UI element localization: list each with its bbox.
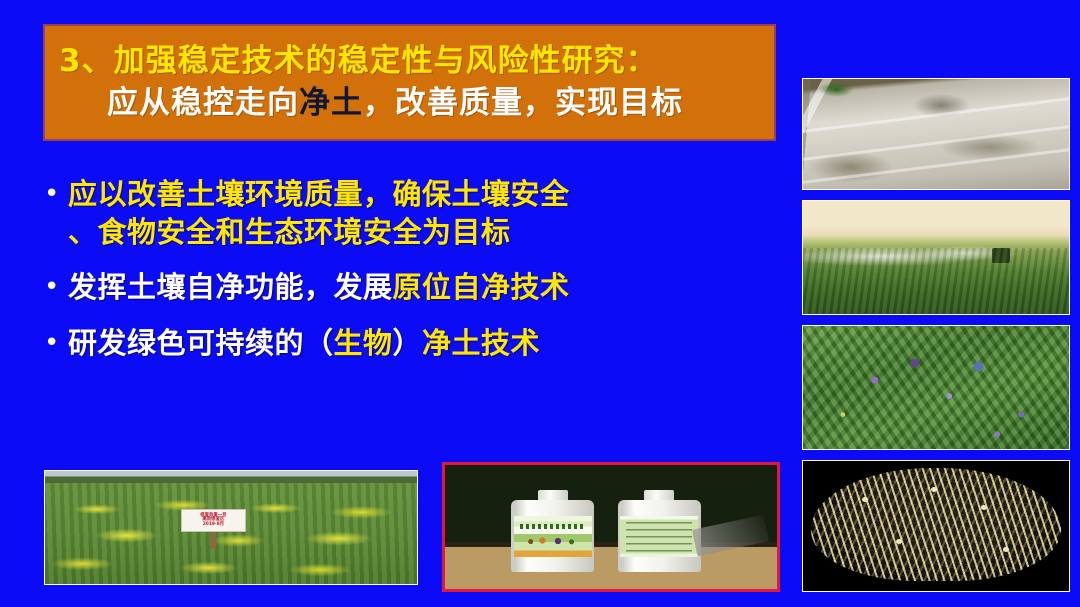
root-nodule-mass xyxy=(811,468,1061,581)
bullet-1-segment-1: 应以改善土壤环境质量，确保土壤安全 xyxy=(68,177,570,211)
crop-field-image xyxy=(803,201,1069,314)
product-bottles-image xyxy=(445,465,777,589)
list-item: • 发挥土壤自净功能，发展原位自净技术 xyxy=(44,269,744,307)
saline-soil-texture xyxy=(803,79,1069,189)
list-item: • 研发绿色可持续的（生物）净土技术 xyxy=(44,325,744,363)
bullet-marker-icon: • xyxy=(44,269,68,305)
root-nodules-photo xyxy=(802,460,1070,592)
bottle-body xyxy=(511,500,594,571)
slide-title-box: 3、加强稳定技术的稳定性与风险性研究： 应从稳控走向净土，改善质量，实现目标 xyxy=(43,24,776,141)
bullet-1-segment-2: 、食物安全和生态环境安全为目标 xyxy=(68,215,511,249)
crop-row-texture xyxy=(803,248,1069,314)
horizon-treeline xyxy=(45,471,417,483)
bottle-body xyxy=(618,500,701,571)
product-bottles-photo xyxy=(442,462,780,592)
bullet-text-1: 应以改善土壤环境质量，确保土壤安全 、食物安全和生态环境安全为目标 xyxy=(68,176,570,251)
bullet-text-3: 研发绿色可持续的（生物）净土技术 xyxy=(68,325,540,363)
list-item: • 应以改善土壤环境质量，确保土壤安全 、食物安全和生态环境安全为目标 xyxy=(44,176,744,251)
yellow-field-texture: 修复效果一号 高效修复区 2019·8月 xyxy=(45,471,417,584)
yellow-flower-field-photo: 修复效果一号 高效修复区 2019·8月 xyxy=(44,470,418,585)
title-line-2-highlight: 净土 xyxy=(299,85,363,121)
title-line-2: 应从稳控走向净土，改善质量，实现目标 xyxy=(59,86,766,121)
bullet-2-segment-2: 原位自净技术 xyxy=(393,270,570,304)
title-line-2-part-2: ，改善质量，实现目标 xyxy=(363,85,683,121)
product-bottle-front xyxy=(511,490,594,572)
label-vegetable-art xyxy=(522,535,584,546)
yellow-field-image: 修复效果一号 高效修复区 2019·8月 xyxy=(45,471,417,584)
bottle-back-label xyxy=(620,516,698,557)
presentation-slide: 3、加强稳定技术的稳定性与风险性研究： 应从稳控走向净土，改善质量，实现目标 •… xyxy=(0,0,1080,607)
bottles-scene-texture xyxy=(445,465,777,589)
field-sign: 修复效果一号 高效修复区 2019·8月 xyxy=(181,509,246,531)
label-title-strip xyxy=(520,524,586,529)
product-bottle-back xyxy=(618,490,701,572)
title-line-2-part-1: 应从稳控走向 xyxy=(107,85,299,121)
nodule xyxy=(1003,547,1009,552)
root-nodules-image xyxy=(803,461,1069,591)
root-mass-texture xyxy=(803,461,1069,591)
bullet-list: • 应以改善土壤环境质量，确保土壤安全 、食物安全和生态环境安全为目标 • 发挥… xyxy=(44,176,744,381)
salt-crusted-soil-photo xyxy=(802,78,1070,190)
label-text-lines xyxy=(626,522,692,553)
flowering-clumps xyxy=(45,483,417,584)
bullet-marker-icon: • xyxy=(44,325,68,361)
foliage-texture xyxy=(803,326,1069,449)
sign-post xyxy=(210,530,216,549)
bullet-2-segment-1: 发挥土壤自净功能，发展 xyxy=(68,270,393,304)
bullet-3-segment-2: 生物 xyxy=(334,326,393,360)
crop-field-texture xyxy=(803,201,1069,314)
background-tool xyxy=(692,515,769,557)
bullet-text-2: 发挥土壤自净功能，发展原位自净技术 xyxy=(68,269,570,307)
bullet-3-segment-3: ） xyxy=(393,326,423,360)
bullet-marker-icon: • xyxy=(44,176,68,212)
irrigated-crop-field-photo xyxy=(802,200,1070,315)
bottle-front-label xyxy=(514,516,592,557)
title-line-1: 3、加强稳定技术的稳定性与风险性研究： xyxy=(59,44,766,79)
bullet-3-segment-1: 研发绿色可持续的（ xyxy=(68,326,334,360)
bullet-3-segment-4: 净土技术 xyxy=(422,326,540,360)
foliage-image xyxy=(803,326,1069,449)
salt-crusted-soil-image xyxy=(803,79,1069,189)
nodule xyxy=(931,487,937,492)
field-sign-line-3: 2019·8月 xyxy=(203,523,224,528)
purple-flower-foliage-photo xyxy=(802,325,1070,450)
vegetation-patch xyxy=(819,82,854,96)
salt-streak xyxy=(802,142,1070,187)
